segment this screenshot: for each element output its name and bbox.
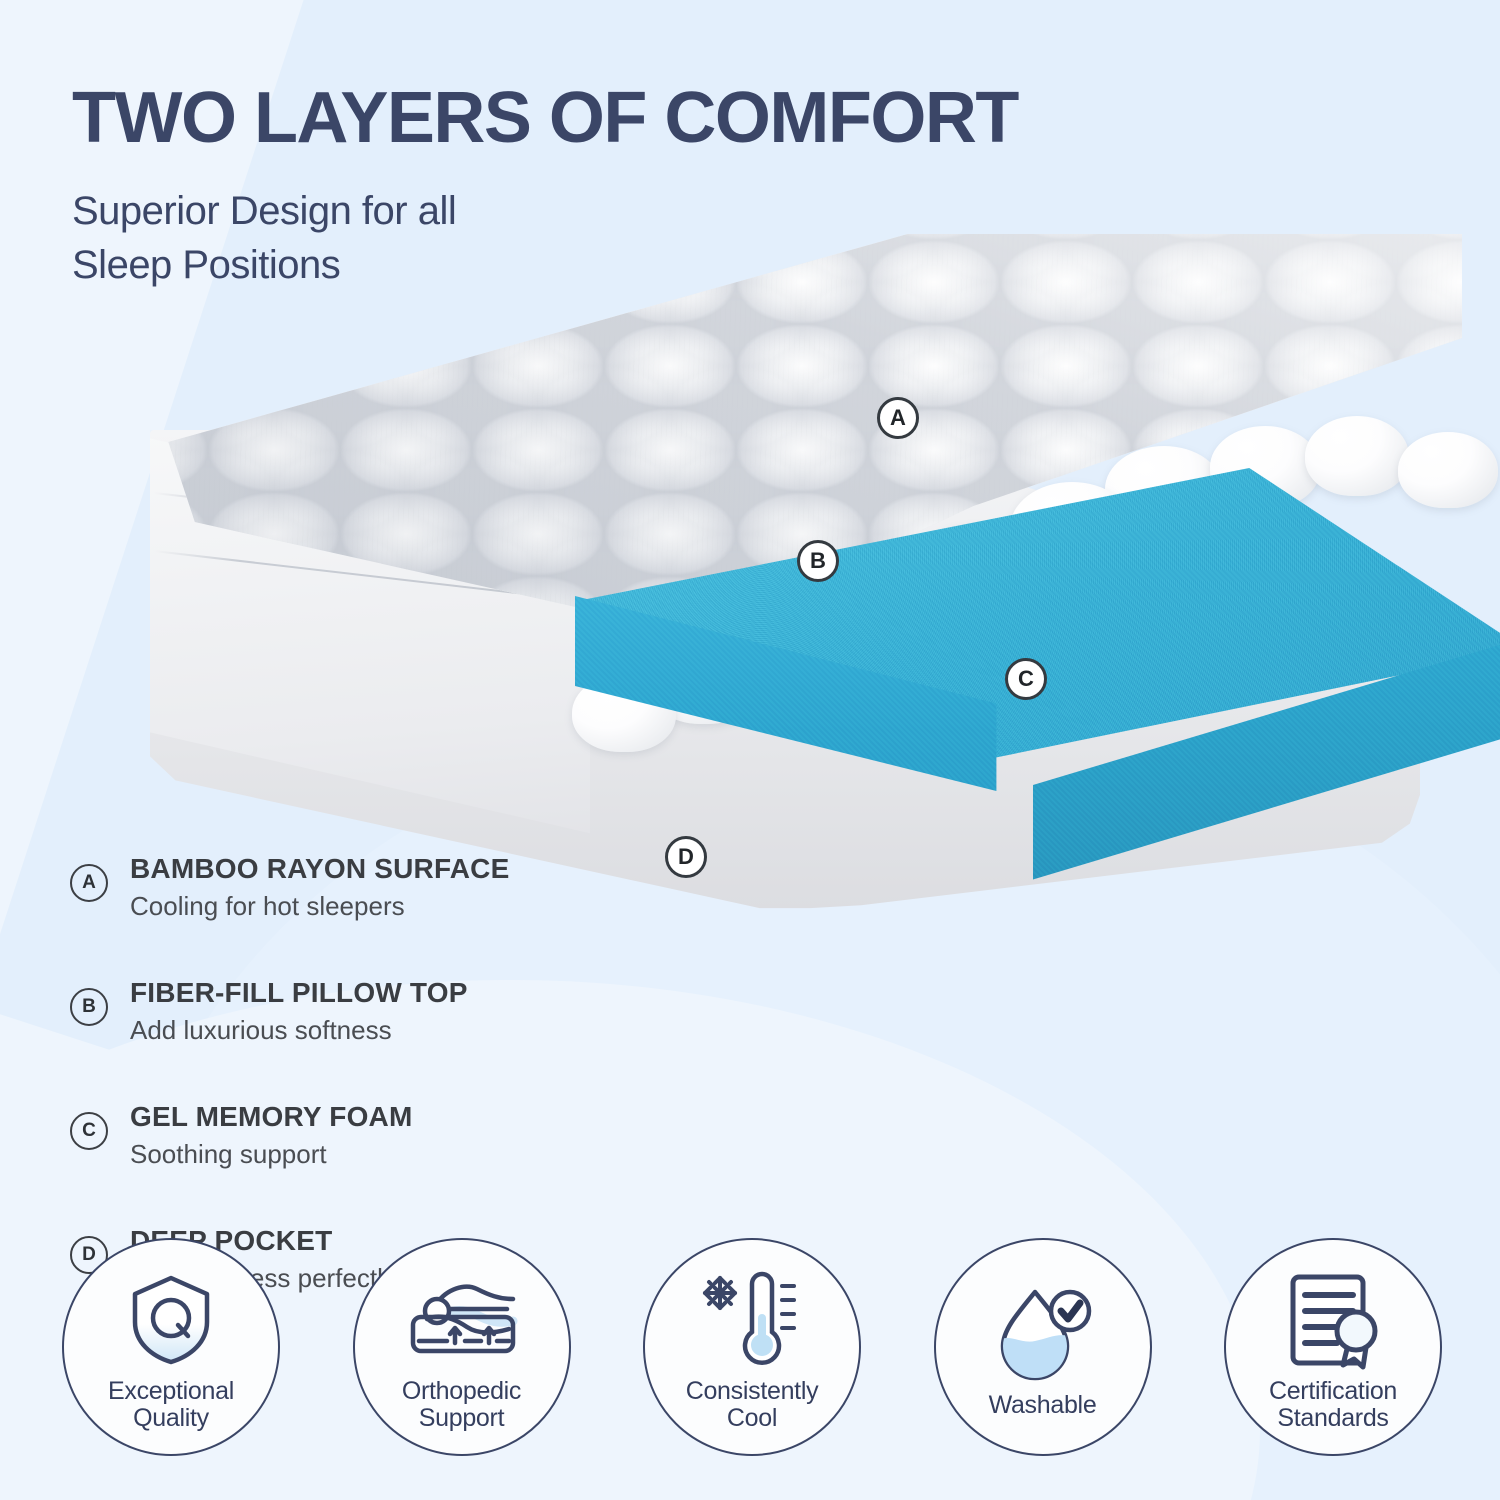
thermometer-snowflake-icon	[696, 1268, 808, 1372]
badge-consistently-cool: Consistently Cool	[643, 1238, 861, 1456]
badge-label: Exceptional Quality	[108, 1378, 234, 1432]
callout-marker-c: C	[1005, 658, 1047, 700]
shield-quality-icon	[125, 1268, 217, 1372]
badge-label-line-1: Washable	[989, 1392, 1097, 1419]
subtitle-line-1: Superior Design for all	[72, 184, 1332, 238]
badge-label-line-1: Orthopedic	[402, 1378, 521, 1405]
badge-label: Certification Standards	[1269, 1378, 1397, 1432]
badge-label-line-2: Standards	[1269, 1405, 1397, 1432]
badge-label-line-2: Quality	[108, 1405, 234, 1432]
feature-text-block: FIBER-FILL PILLOW TOP Add luxurious soft…	[130, 976, 468, 1046]
callout-marker-b: B	[797, 540, 839, 582]
badge-label-line-2: Cool	[686, 1405, 819, 1432]
feature-text-block: GEL MEMORY FOAM Soothing support	[130, 1100, 413, 1170]
feature-letter-badge-a: A	[70, 864, 108, 902]
badge-label: Consistently Cool	[686, 1378, 819, 1432]
badge-label-line-1: Exceptional	[108, 1378, 234, 1405]
list-item: A BAMBOO RAYON SURFACE Cooling for hot s…	[70, 852, 630, 922]
feature-description: Cooling for hot sleepers	[130, 890, 509, 923]
feature-letter-badge-b: B	[70, 988, 108, 1026]
feature-description: Soothing support	[130, 1138, 413, 1171]
certificate-award-icon	[1283, 1268, 1383, 1372]
feature-title: GEL MEMORY FOAM	[130, 1100, 413, 1134]
badge-exceptional-quality: Exceptional Quality	[62, 1238, 280, 1456]
badge-orthopedic-support: Orthopedic Support	[353, 1238, 571, 1456]
feature-title: FIBER-FILL PILLOW TOP	[130, 976, 468, 1010]
badge-certification-standards: Certification Standards	[1224, 1238, 1442, 1456]
page-title: TWO LAYERS OF COMFORT	[72, 82, 1332, 154]
page-subtitle: Superior Design for all Sleep Positions	[72, 184, 1332, 292]
feature-letter-badge-c: C	[70, 1112, 108, 1150]
badge-label-line-2: Support	[402, 1405, 521, 1432]
feature-badge-row: Exceptional Quality Orthopedic Support	[62, 1238, 1442, 1488]
feature-description: Add luxurious softness	[130, 1014, 468, 1047]
list-item: B FIBER-FILL PILLOW TOP Add luxurious so…	[70, 976, 630, 1046]
badge-label: Orthopedic Support	[402, 1378, 521, 1432]
feature-title: BAMBOO RAYON SURFACE	[130, 852, 509, 886]
subtitle-line-2: Sleep Positions	[72, 238, 1332, 292]
callout-marker-d: D	[665, 836, 707, 878]
callout-marker-a: A	[877, 397, 919, 439]
feature-text-block: BAMBOO RAYON SURFACE Cooling for hot sle…	[130, 852, 509, 922]
list-item: C GEL MEMORY FOAM Soothing support	[70, 1100, 630, 1170]
water-drop-check-icon	[991, 1282, 1095, 1386]
badge-label-line-1: Consistently	[686, 1378, 819, 1405]
badge-label-line-1: Certification	[1269, 1378, 1397, 1405]
orthopedic-support-icon	[403, 1268, 521, 1372]
badge-washable: Washable	[934, 1238, 1152, 1456]
header: TWO LAYERS OF COMFORT Superior Design fo…	[72, 82, 1332, 292]
badge-label: Washable	[989, 1392, 1097, 1419]
